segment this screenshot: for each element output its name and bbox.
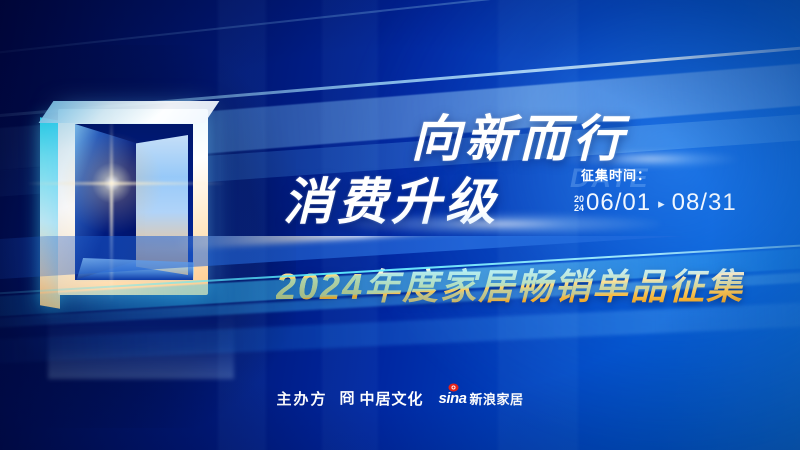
gold-title: 2024年度家居畅销单品征集 <box>276 258 744 310</box>
headline-line-1: 向新而行 <box>411 110 627 168</box>
date-year: 20 24 <box>574 195 584 217</box>
sina-home-name: 新浪家居 <box>470 389 524 408</box>
sina-eye-icon <box>448 383 459 392</box>
sina-logo: sina <box>439 390 467 408</box>
footer-sponsors: 主办方 冏 中居文化 sina 新浪家居 <box>0 388 800 409</box>
zhongju-name: 中居文化 <box>359 388 423 409</box>
organizer-label: 主办方 <box>276 388 327 409</box>
gold-title-year: 2024 <box>276 266 364 307</box>
date-year-bottom: 24 <box>574 204 584 213</box>
gold-title-rest: 年度家居畅销单品征集 <box>364 266 744 307</box>
date-end: 08/31 <box>672 189 737 217</box>
zhongju-logo-icon: 冏 <box>338 390 355 407</box>
sina-wordmark: sina <box>439 390 467 407</box>
date-label: 征集时间： <box>581 165 783 184</box>
date-value-row: 20 24 06/01 ▸ 08/31 <box>574 189 783 217</box>
brand-sina-home[interactable]: sina 新浪家居 <box>439 389 524 408</box>
date-arrow-icon: ▸ <box>653 196 670 217</box>
promo-banner: 向新而行 消费升级 DATE 征集时间： 20 24 06/01 ▸ 08/31… <box>0 0 800 450</box>
brand-zhongju-culture[interactable]: 冏 中居文化 <box>338 388 423 409</box>
headline-block: 向新而行 消费升级 <box>0 0 800 450</box>
date-start: 06/01 <box>586 189 651 217</box>
collection-date-block: DATE 征集时间： 20 24 06/01 ▸ 08/31 <box>568 165 783 217</box>
